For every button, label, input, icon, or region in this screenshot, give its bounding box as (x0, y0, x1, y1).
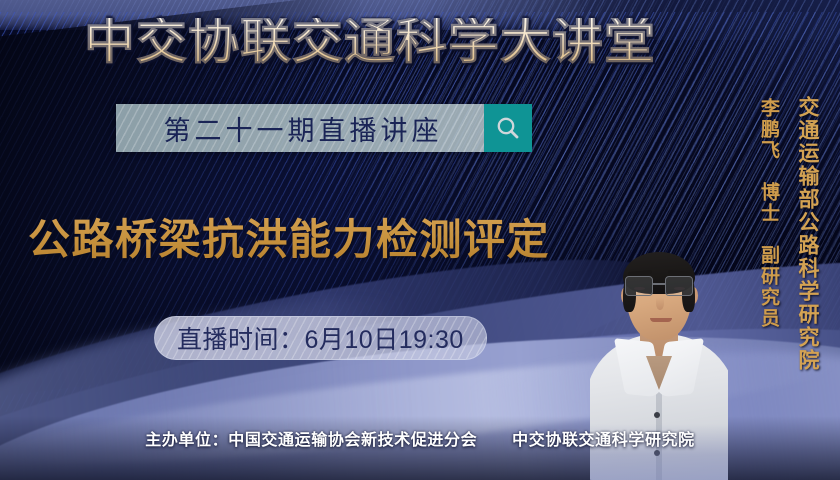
subtitle-bar-text-area: 第二十一期直播讲座 (116, 104, 484, 152)
speaker-glasses-bridge (653, 283, 665, 285)
speaker-shirt-button-top (654, 412, 660, 418)
footer-container: 主办单位：中国交通运输协会新技术促进分会 中交协联交通科学研究院 (0, 426, 840, 450)
live-time-label: 直播时间：6月10日19:30 (177, 320, 464, 356)
speaker-nose (656, 297, 664, 310)
live-time-badge: 直播时间：6月10日19:30 (154, 316, 487, 360)
speaker-mouth (650, 318, 672, 322)
speaker-name-vertical: 李鹏飞 博士 副研究员 (758, 98, 778, 329)
poster-root: 中交协联交通科学大讲堂 第二十一期直播讲座 公路桥梁抗洪能力检测评定 直播时间：… (0, 0, 840, 480)
speaker-glasses-lens-right (665, 276, 693, 296)
lecture-topic: 公路桥梁抗洪能力检测评定 (28, 206, 550, 267)
search-icon (495, 115, 521, 141)
speaker-glasses (623, 276, 695, 298)
speaker-glasses-lens-left (625, 276, 653, 296)
subtitle-bar: 第二十一期直播讲座 (116, 104, 532, 152)
main-title-container: 中交协联交通科学大讲堂 (0, 18, 740, 67)
speaker-organization-vertical: 交通运输部公路科学研究院 (796, 96, 818, 372)
subtitle-bar-label: 第二十一期直播讲座 (158, 109, 443, 148)
search-icon-tile[interactable] (484, 104, 532, 152)
main-title: 中交协联交通科学大讲堂 (84, 18, 656, 67)
footer-organizer-primary: 主办单位：中国交通运输协会新技术促进分会 (145, 426, 477, 450)
footer-organizer-secondary: 中交协联交通科学研究院 (512, 426, 695, 450)
